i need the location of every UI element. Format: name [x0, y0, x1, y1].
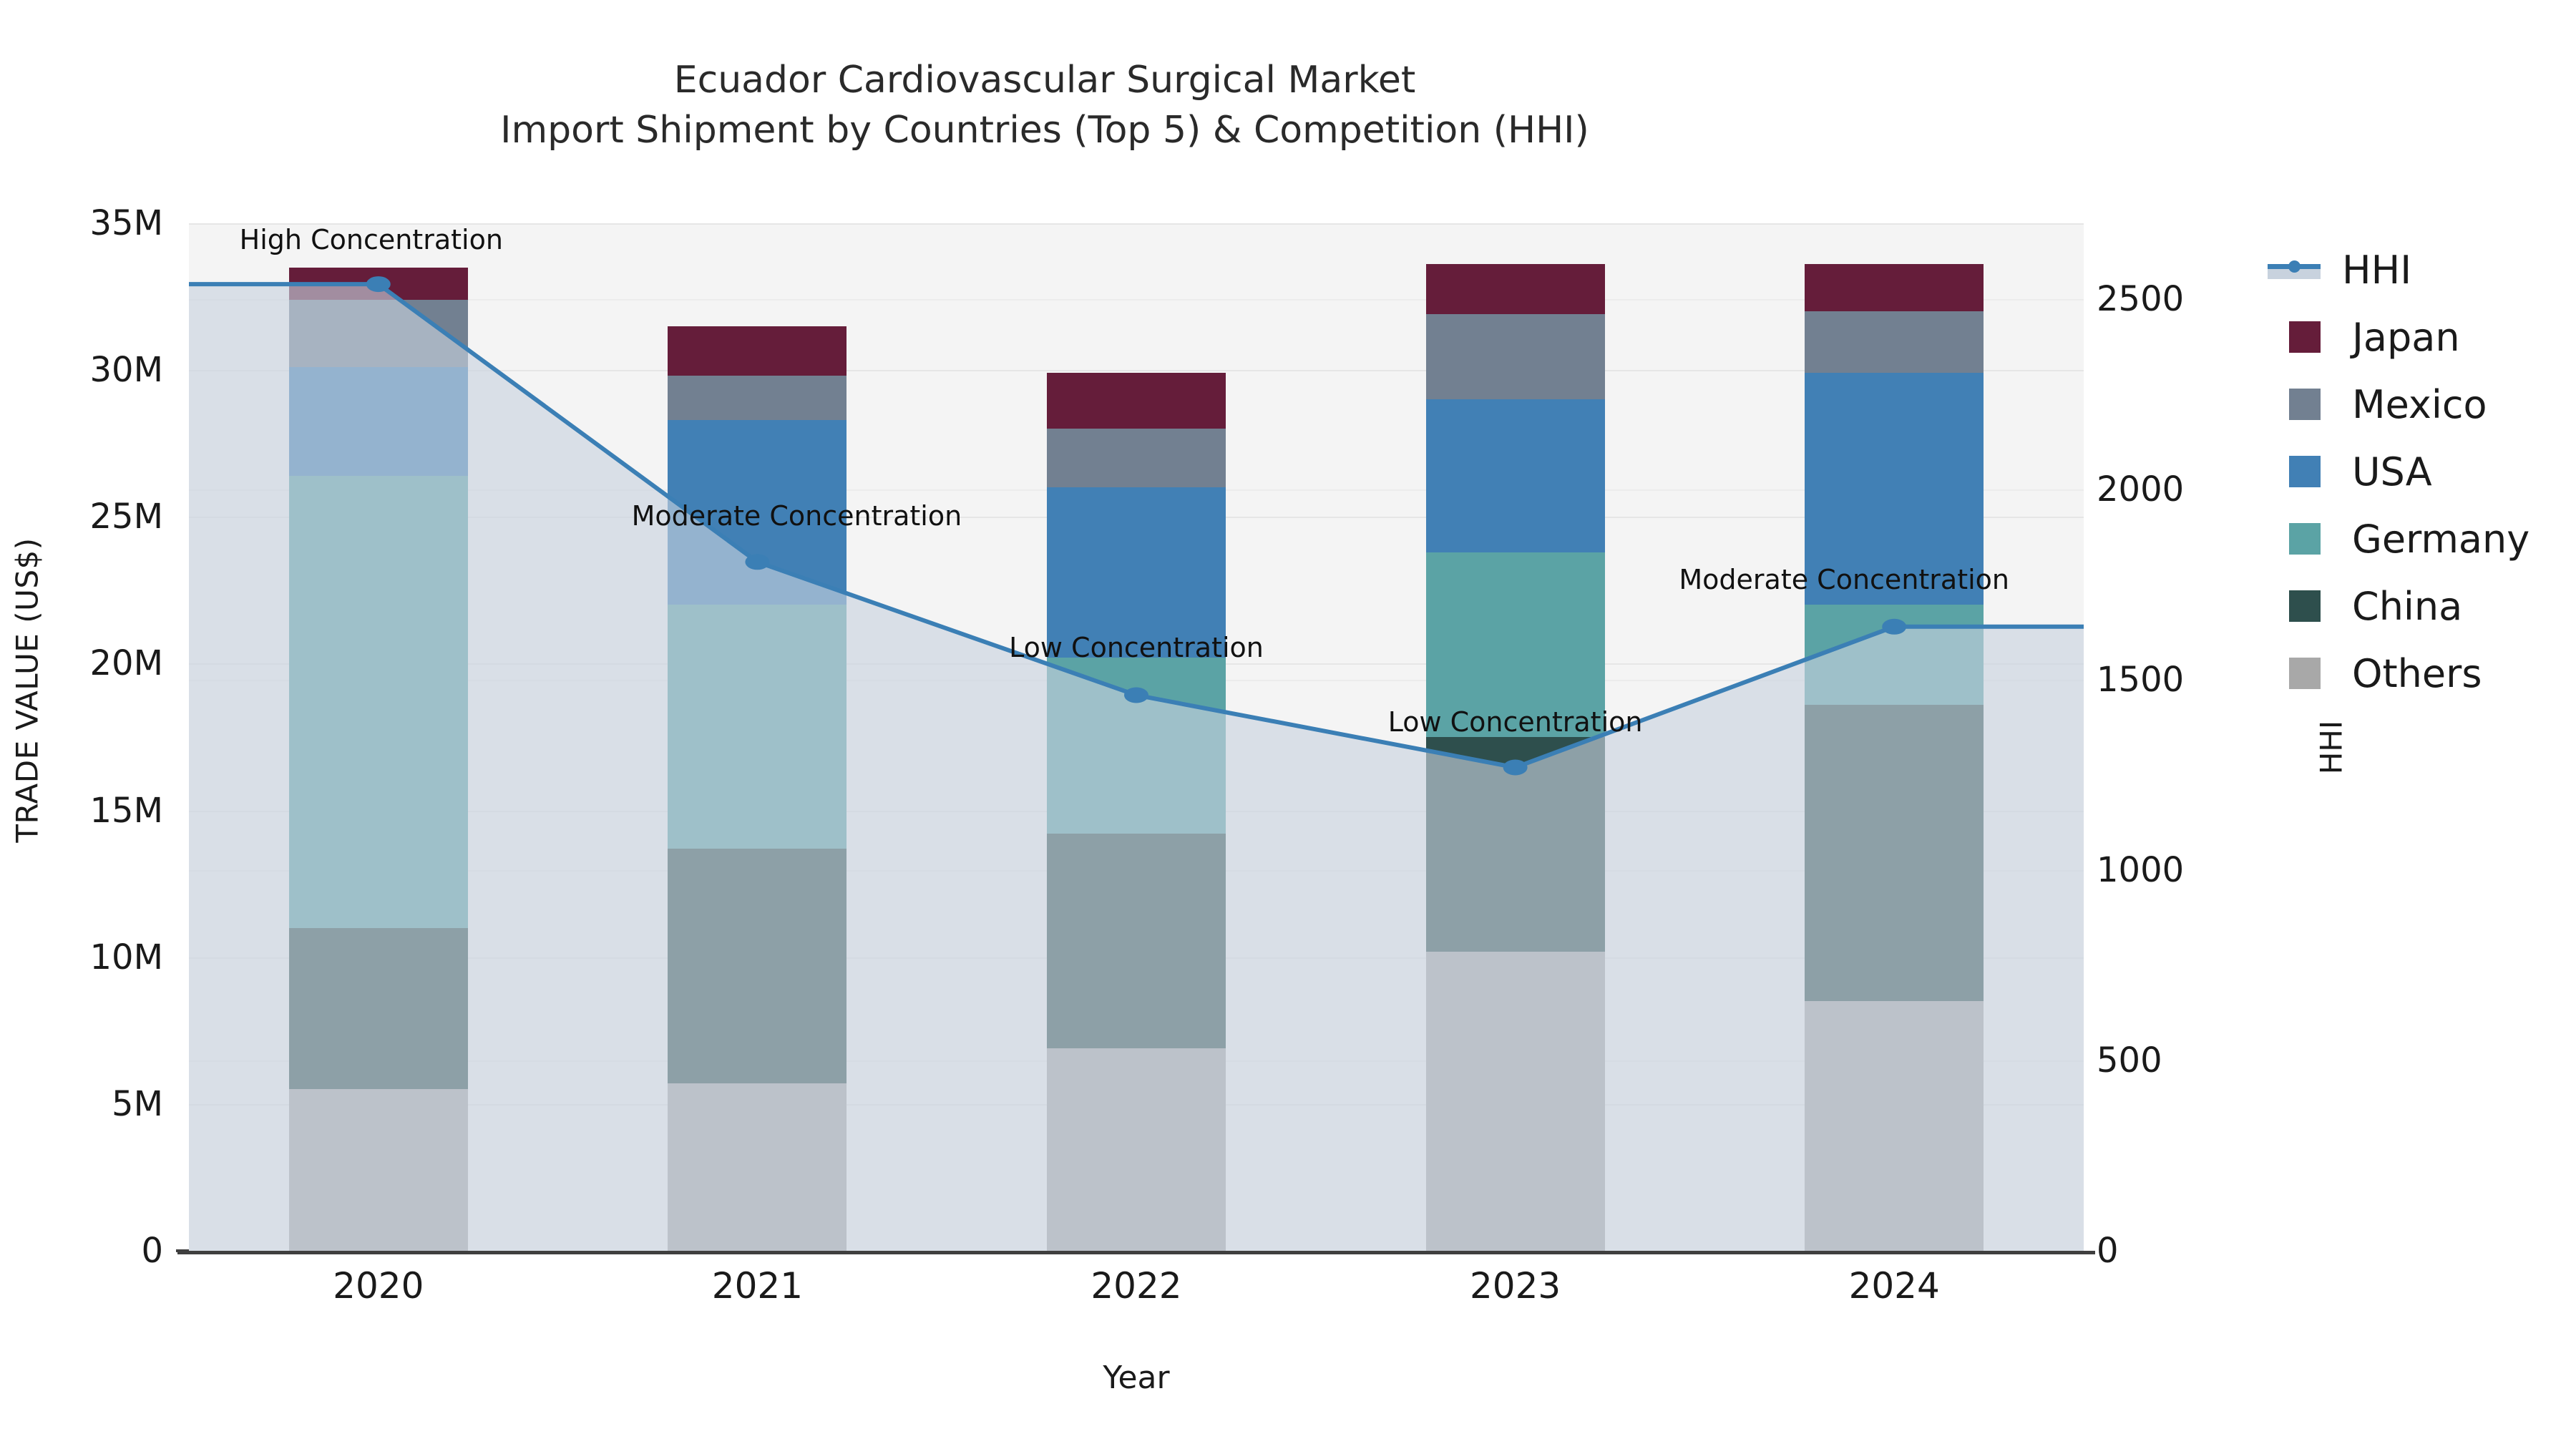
chart-title: Ecuador Cardiovascular Surgical Market [0, 56, 2089, 106]
bar-segment-germany-2020[interactable] [289, 476, 468, 928]
annotation-label: High Concentration [240, 224, 503, 255]
annotation-label: Low Concentration [1009, 632, 1264, 663]
y-tick-label-secondary: 500 [2097, 1040, 2162, 1080]
legend-label: HHI [2342, 248, 2411, 293]
x-tick-label-2020: 2020 [333, 1265, 424, 1307]
legend-swatch-japan [2289, 321, 2321, 353]
bar-segment-others-2024[interactable] [1805, 1001, 1984, 1251]
x-tick-label-2021: 2021 [712, 1265, 803, 1307]
bar-segment-germany-2021[interactable] [668, 605, 847, 849]
legend-swatch-others [2289, 658, 2321, 689]
legend-label: USA [2352, 449, 2432, 494]
y-tick-label-secondary: 1000 [2097, 850, 2184, 890]
plot-area [189, 223, 2084, 1251]
y-tick-label: 30M [90, 350, 180, 390]
bar-segment-china-2024[interactable] [1805, 705, 1984, 1001]
bar-segment-china-2020[interactable] [289, 928, 468, 1090]
bar-segment-japan-2021[interactable] [668, 326, 847, 376]
x-axis-line [177, 1251, 2095, 1254]
legend-label: Others [2352, 651, 2482, 696]
legend-item-japan[interactable]: Japan [2279, 303, 2576, 371]
legend-swatch-china [2289, 590, 2321, 622]
chart-canvas: Ecuador Cardiovascular Surgical Market I… [0, 0, 2576, 1449]
legend-line-marker-icon [2268, 254, 2321, 286]
legend-swatch-germany [2289, 523, 2321, 555]
legend-item-hhi[interactable]: HHI [2279, 236, 2576, 303]
legend-item-mexico[interactable]: Mexico [2279, 371, 2576, 438]
chart-subtitle: Import Shipment by Countries (Top 5) & C… [0, 106, 2089, 156]
bar-stacks [189, 223, 2084, 1251]
legend-swatch-usa [2289, 456, 2321, 487]
y-tick-label-secondary: 1500 [2097, 660, 2184, 700]
y-tick-label-secondary: 0 [2097, 1231, 2119, 1271]
bar-segment-mexico-2020[interactable] [289, 300, 468, 367]
bar-segment-others-2023[interactable] [1426, 952, 1605, 1251]
bar-stack-2024[interactable] [1805, 264, 1984, 1251]
bar-segment-china-2023[interactable] [1426, 737, 1605, 952]
bar-segment-usa-2023[interactable] [1426, 399, 1605, 552]
bar-segment-germany-2022[interactable] [1047, 658, 1226, 834]
annotation-label: Low Concentration [1388, 706, 1643, 738]
chart-title-block: Ecuador Cardiovascular Surgical Market I… [0, 56, 2089, 155]
legend-label: Germany [2352, 517, 2529, 562]
y-tick-label: 5M [112, 1084, 179, 1124]
bar-stack-2021[interactable] [668, 326, 847, 1251]
y-tick-label: 20M [90, 643, 180, 683]
bar-segment-japan-2022[interactable] [1047, 373, 1226, 429]
bar-segment-mexico-2024[interactable] [1805, 311, 1984, 373]
y-tick-mark [176, 1249, 189, 1252]
legend-item-germany[interactable]: Germany [2279, 505, 2576, 572]
y-tick-label: 35M [90, 203, 180, 243]
y-tick-label: 25M [90, 497, 180, 537]
bar-segment-japan-2024[interactable] [1805, 264, 1984, 311]
bar-segment-china-2021[interactable] [668, 849, 847, 1083]
bar-stack-2022[interactable] [1047, 373, 1226, 1251]
bar-segment-others-2022[interactable] [1047, 1048, 1226, 1251]
legend-label: Japan [2352, 315, 2460, 360]
legend-item-china[interactable]: China [2279, 572, 2576, 640]
x-tick-label-2024: 2024 [1849, 1265, 1940, 1307]
bar-segment-china-2022[interactable] [1047, 834, 1226, 1048]
bar-segment-usa-2020[interactable] [289, 367, 468, 476]
y-tick-label-secondary: 2000 [2097, 469, 2184, 509]
bar-segment-mexico-2021[interactable] [668, 376, 847, 420]
y-tick-label-secondary: 2500 [2097, 279, 2184, 319]
legend-item-others[interactable]: Others [2279, 640, 2576, 707]
x-tick-label-2023: 2023 [1470, 1265, 1561, 1307]
y-axis-left-label: TRADE VALUE (US$) [10, 476, 45, 905]
y-axis-right-ticks: 05001000150020002500 [2097, 0, 2311, 1449]
bar-segment-mexico-2022[interactable] [1047, 429, 1226, 487]
bar-segment-others-2020[interactable] [289, 1089, 468, 1251]
legend-label: Mexico [2352, 382, 2487, 427]
annotation-label: Moderate Concentration [632, 500, 962, 532]
x-axis-label: Year [189, 1360, 2084, 1396]
legend: HHIJapanMexicoUSAGermanyChinaOthers [2279, 236, 2576, 707]
legend-item-usa[interactable]: USA [2279, 438, 2576, 505]
bar-segment-japan-2020[interactable] [289, 268, 468, 300]
bar-segment-others-2021[interactable] [668, 1083, 847, 1251]
annotation-label: Moderate Concentration [1679, 564, 2009, 595]
bar-segment-germany-2024[interactable] [1805, 605, 1984, 704]
legend-swatch-mexico [2289, 389, 2321, 420]
y-tick-label: 10M [90, 937, 180, 977]
y-tick-label: 15M [90, 791, 180, 831]
bar-segment-mexico-2023[interactable] [1426, 314, 1605, 399]
bar-stack-2023[interactable] [1426, 264, 1605, 1251]
legend-dot-icon [2288, 260, 2301, 273]
bar-stack-2020[interactable] [289, 268, 468, 1251]
y-tick-label: 0 [141, 1231, 179, 1271]
bar-segment-japan-2023[interactable] [1426, 264, 1605, 314]
legend-label: China [2352, 584, 2462, 629]
x-tick-label-2022: 2022 [1091, 1265, 1181, 1307]
